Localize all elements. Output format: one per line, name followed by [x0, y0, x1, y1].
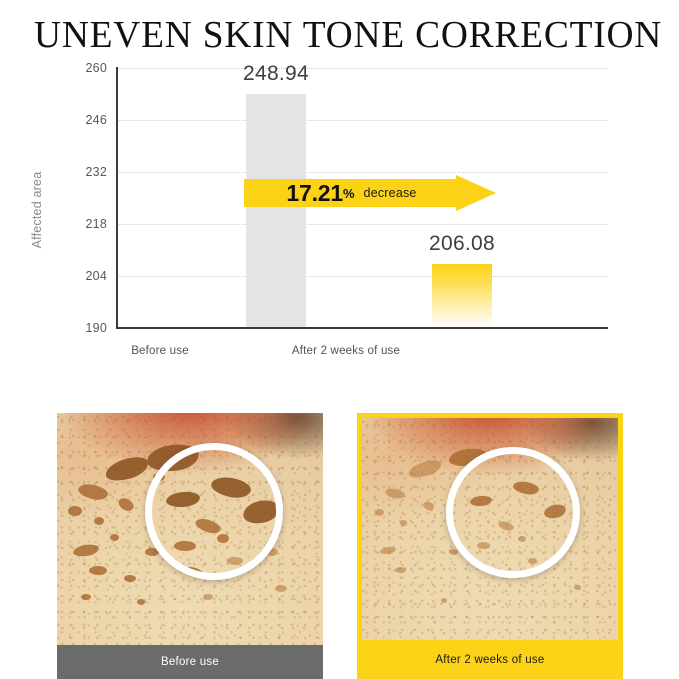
y-tick-label: 246	[86, 113, 107, 127]
highlight-circle-overlay	[145, 443, 283, 580]
photo-panel-after: After 2 weeks of use	[357, 413, 623, 679]
x-axis-line	[116, 327, 608, 329]
bar-value-before: 248.94	[206, 62, 346, 86]
x-axis-label-after: After 2 weeks of use	[256, 345, 436, 357]
bar-before-use	[246, 94, 306, 328]
y-tick-label: 260	[86, 61, 107, 75]
y-axis-line	[116, 67, 118, 329]
page-title: UNEVEN SKIN TONE CORRECTION	[34, 13, 645, 57]
y-tick-label: 190	[86, 321, 107, 335]
y-axis-title: Affected area	[30, 130, 44, 290]
bar-value-after: 206.08	[392, 232, 532, 256]
decrease-value: 17.21	[286, 180, 343, 207]
bar-chart: Affected area 248.94 206.08 260 246 232 …	[0, 55, 679, 375]
photo-caption-before: Before use	[57, 645, 323, 679]
skin-photo-before	[57, 413, 323, 645]
gridline	[116, 224, 608, 225]
gridline	[116, 120, 608, 121]
x-axis-label-before: Before use	[70, 345, 250, 357]
highlight-circle-overlay	[446, 447, 579, 578]
gridline	[116, 68, 608, 69]
bar-after-use	[432, 264, 492, 328]
skin-photo-after	[362, 418, 618, 640]
y-tick-label: 232	[86, 165, 107, 179]
y-tick-label: 218	[86, 217, 107, 231]
photo-panel-before: Before use	[57, 413, 323, 679]
decrease-label: decrease	[364, 186, 417, 200]
decrease-annotation: 17.21 % decrease	[244, 175, 459, 211]
gridline	[116, 276, 608, 277]
percent-symbol: %	[343, 186, 355, 201]
photo-caption-after: After 2 weeks of use	[357, 640, 623, 679]
gridline	[116, 172, 608, 173]
y-tick-label: 204	[86, 269, 107, 283]
